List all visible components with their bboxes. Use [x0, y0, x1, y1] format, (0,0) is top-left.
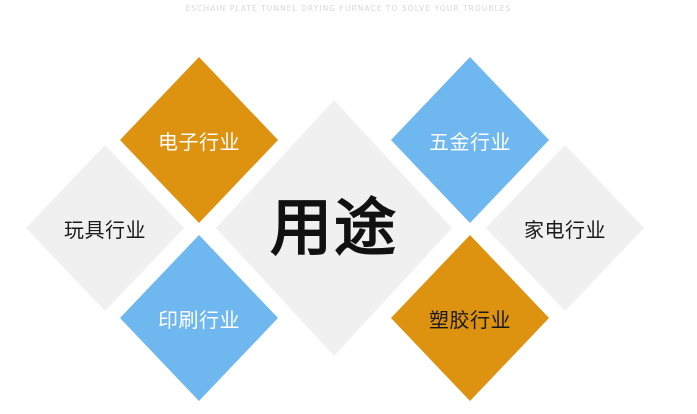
diamond-field: 玩具行业 家电行业 电子行业 五金行业 印刷行业 塑胶行业	[0, 0, 697, 414]
diamond-center-label: 用途	[270, 197, 398, 259]
usage-diagram-canvas: ESCHAIN PLATE TUNNEL DRYING FURNACE TO S…	[0, 0, 697, 414]
diamond-center[interactable]: 用途	[216, 100, 452, 356]
